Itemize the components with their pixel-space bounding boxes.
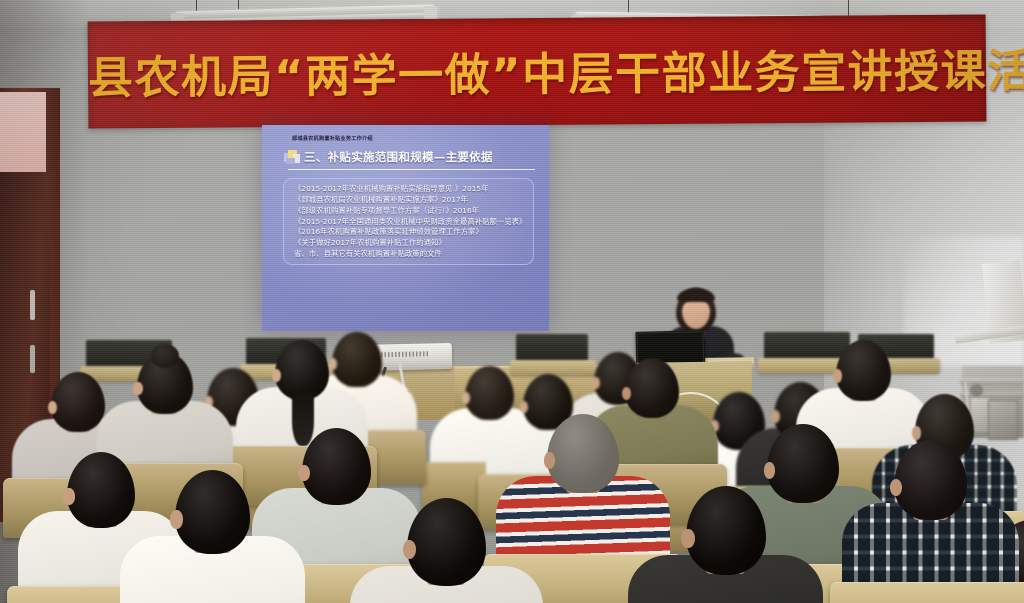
audience-member-head xyxy=(836,340,891,401)
audience-member-ear xyxy=(272,369,281,382)
audience-member-head xyxy=(332,332,382,387)
audience xyxy=(0,0,1024,603)
audience-member-head xyxy=(465,366,514,420)
audience-member-ear xyxy=(170,510,183,528)
lecture-chair-back[interactable] xyxy=(830,582,1024,603)
audience-member-ear xyxy=(63,488,74,504)
audience-member-ear xyxy=(592,377,600,388)
audience-member-ear xyxy=(833,369,842,382)
audience-member-head xyxy=(894,440,966,520)
audience-member-ear xyxy=(681,529,694,548)
audience-member-ear xyxy=(403,540,416,559)
audience-member-ear xyxy=(133,382,142,396)
audience-member-head xyxy=(625,358,679,418)
audience-member-head xyxy=(51,372,105,432)
audience-member-head xyxy=(547,414,618,493)
audience-member-ear xyxy=(298,465,310,482)
audience-member-head xyxy=(686,486,766,575)
audience-member-ear xyxy=(622,387,631,400)
audience-member-hair-bun xyxy=(151,344,179,368)
audience-member-head xyxy=(767,424,838,503)
audience-member-ponytail xyxy=(292,388,314,446)
lecture-hall-photo: 县农机局“两学一做”中层干部业务宣讲授课活动 郯城县农机购置补贴业务工作介绍 三… xyxy=(0,0,1024,603)
audience-member-ear xyxy=(48,401,57,414)
audience-member-ear xyxy=(771,410,780,423)
